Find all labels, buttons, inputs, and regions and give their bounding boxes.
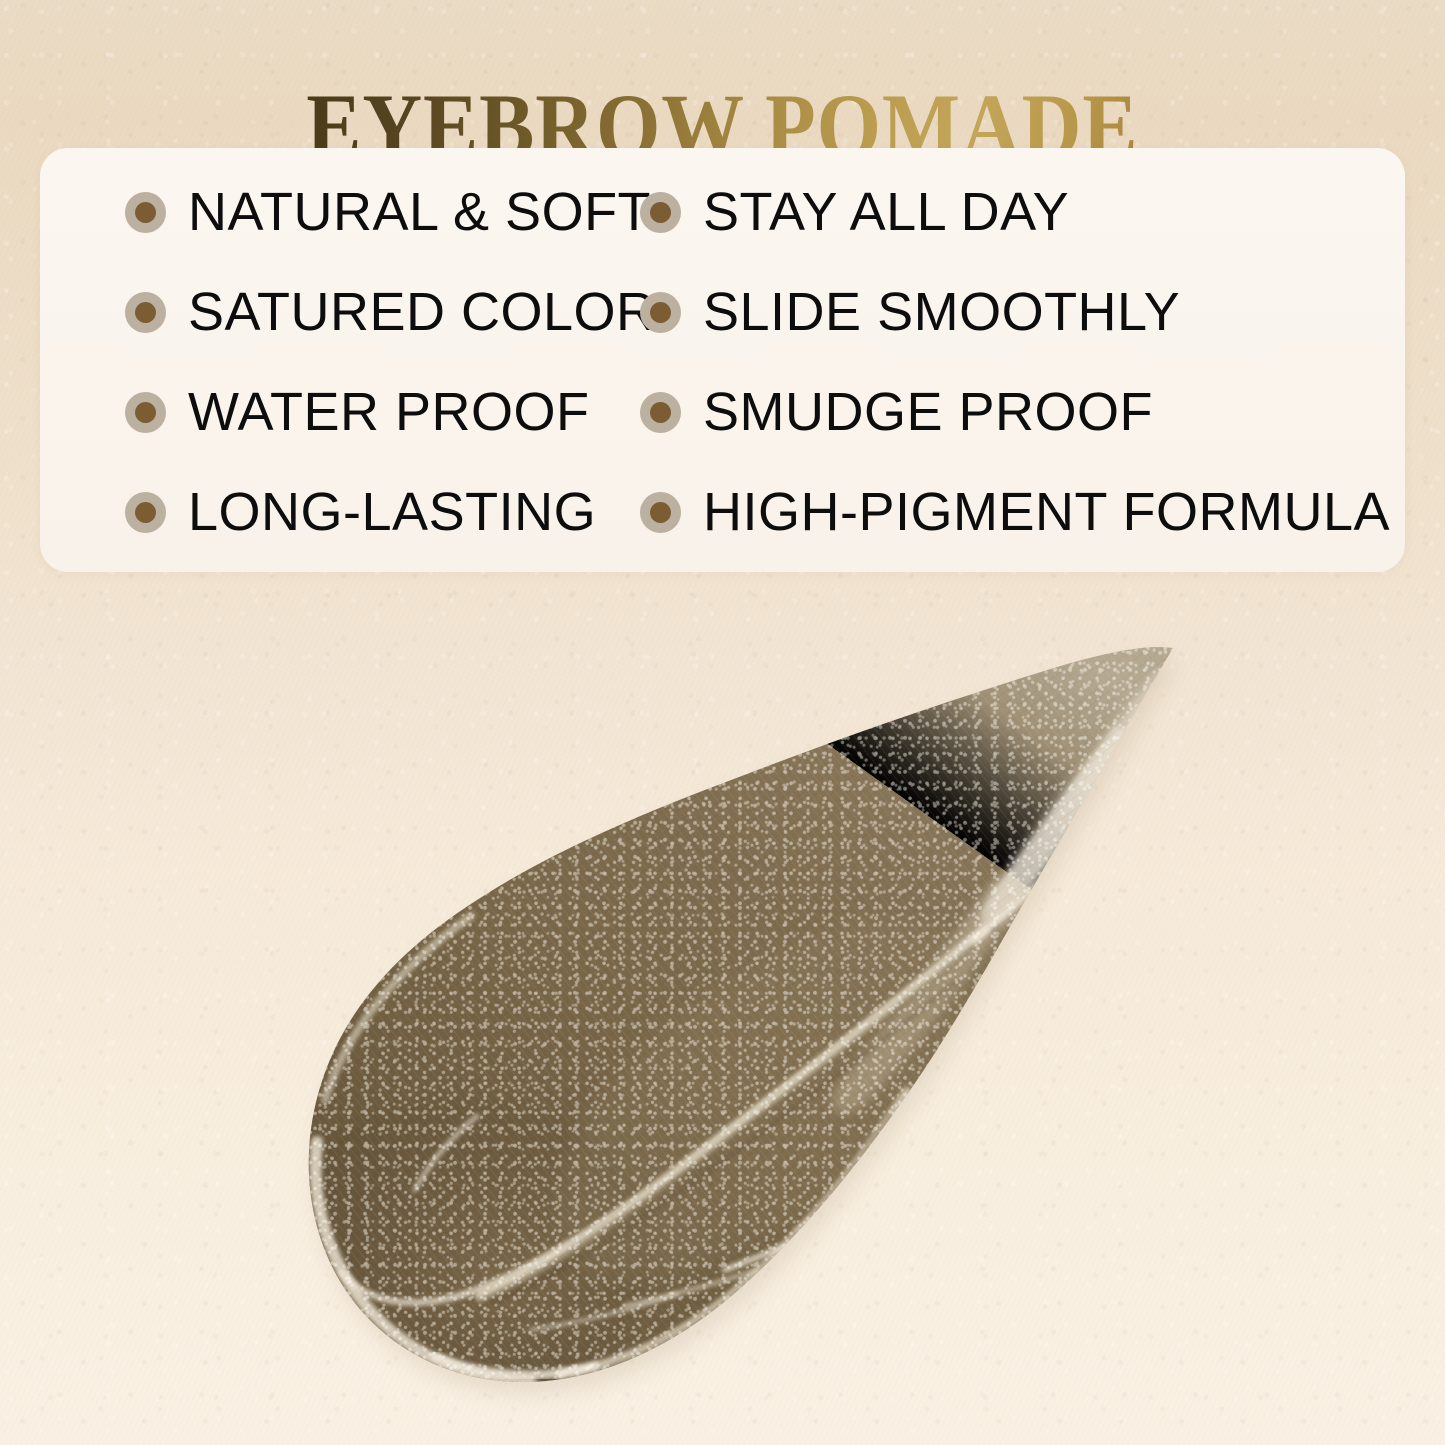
feature-item-water-proof: WATER PROOF <box>40 385 618 439</box>
bullet-icon <box>640 192 681 233</box>
feature-item-high-pigment-formula: HIGH-PIGMENT FORMULA <box>618 485 1405 539</box>
feature-label: NATURAL & SOFT <box>188 185 651 239</box>
feature-item-stay-all-day: STAY ALL DAY <box>618 185 1405 239</box>
feature-label: SLIDE SMOOTHLY <box>703 285 1180 339</box>
smear-shape <box>295 630 1200 1420</box>
feature-label: SMUDGE PROOF <box>703 385 1153 439</box>
feature-label: WATER PROOF <box>188 385 589 439</box>
bullet-icon <box>125 292 166 333</box>
bullet-icon <box>125 192 166 233</box>
bullet-icon <box>640 392 681 433</box>
bullet-icon <box>640 492 681 533</box>
feature-label: STAY ALL DAY <box>703 185 1069 239</box>
feature-panel: NATURAL & SOFT STAY ALL DAY SATURED COLO… <box>40 148 1405 572</box>
bullet-icon <box>125 492 166 533</box>
feature-label: HIGH-PIGMENT FORMULA <box>703 485 1390 539</box>
bullet-icon <box>125 392 166 433</box>
feature-item-slide-smoothly: SLIDE SMOOTHLY <box>618 285 1405 339</box>
product-infographic-page: EYEBROW POMADE NATURAL & SOFT STAY ALL D… <box>0 0 1445 1445</box>
feature-label: SATURED COLOR <box>188 285 656 339</box>
feature-item-natural-and-soft: NATURAL & SOFT <box>40 185 618 239</box>
feature-item-smudge-proof: SMUDGE PROOF <box>618 385 1405 439</box>
feature-item-long-lasting: LONG-LASTING <box>40 485 618 539</box>
feature-item-satured-color: SATURED COLOR <box>40 285 618 339</box>
bullet-icon <box>640 292 681 333</box>
product-swatch-area <box>0 590 1445 1445</box>
eyebrow-pomade-smear-swatch <box>295 630 1200 1420</box>
feature-label: LONG-LASTING <box>188 485 596 539</box>
feature-list: NATURAL & SOFT STAY ALL DAY SATURED COLO… <box>40 148 1405 572</box>
